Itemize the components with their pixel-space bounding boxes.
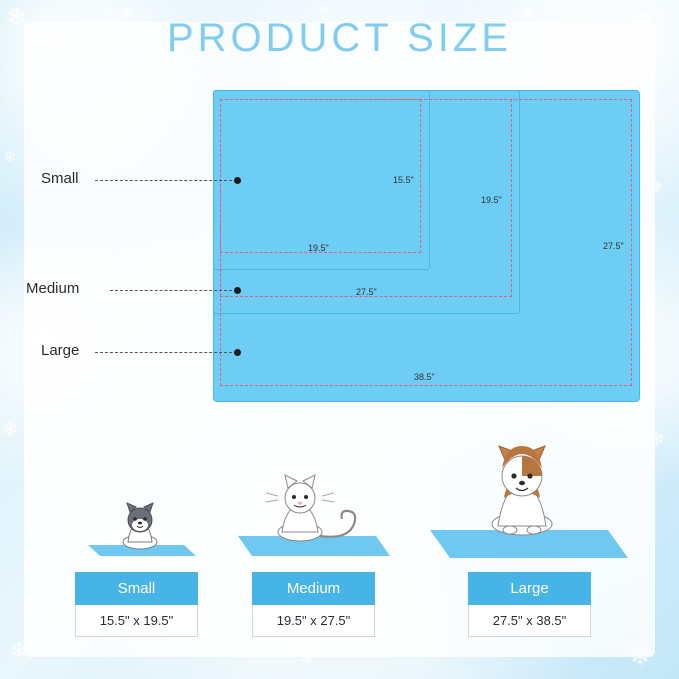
illustration-medium <box>234 470 394 560</box>
large-width-label: 38.5" <box>414 372 435 382</box>
product-size-infographic: ❄ ❄ ❄ ❄ ❄ ❄ ❄ ❄ ❄ ❄ ❄ ❄ ❄ PRODUCT SIZE 1… <box>0 0 679 679</box>
medium-height-label: 19.5" <box>481 195 502 205</box>
small-height-label: 15.5" <box>393 175 414 185</box>
card-medium-title: Medium <box>252 572 375 605</box>
card-medium: Medium 19.5" x 27.5" <box>252 572 375 637</box>
leader-dot-large <box>234 349 241 356</box>
card-large-size: 27.5" x 38.5" <box>468 605 591 637</box>
illustration-small <box>84 498 199 560</box>
illustration-large <box>426 444 631 562</box>
card-small-title: Small <box>75 572 198 605</box>
leader-dot-medium <box>234 287 241 294</box>
page-title: PRODUCT SIZE <box>0 16 679 61</box>
snowflake-icon: ❄ <box>320 2 331 15</box>
size-label-large: Large <box>41 342 79 359</box>
card-large: Large 27.5" x 38.5" <box>468 572 591 637</box>
card-small-size: 15.5" x 19.5" <box>75 605 198 637</box>
snowflake-icon: ❄ <box>2 420 19 440</box>
card-medium-size: 19.5" x 27.5" <box>252 605 375 637</box>
leader-line-small <box>95 180 237 181</box>
size-label-medium: Medium <box>26 280 79 297</box>
leader-line-medium <box>110 290 237 291</box>
medium-width-label: 27.5" <box>356 287 377 297</box>
size-label-small: Small <box>41 170 79 187</box>
card-large-title: Large <box>468 572 591 605</box>
leader-dot-small <box>234 177 241 184</box>
leader-line-large <box>95 352 237 353</box>
card-small: Small 15.5" x 19.5" <box>75 572 198 637</box>
small-width-label: 19.5" <box>308 243 329 253</box>
large-height-label: 27.5" <box>603 241 624 251</box>
snowflake-icon: ❄ <box>4 150 17 165</box>
dimension-box-large <box>220 99 632 386</box>
